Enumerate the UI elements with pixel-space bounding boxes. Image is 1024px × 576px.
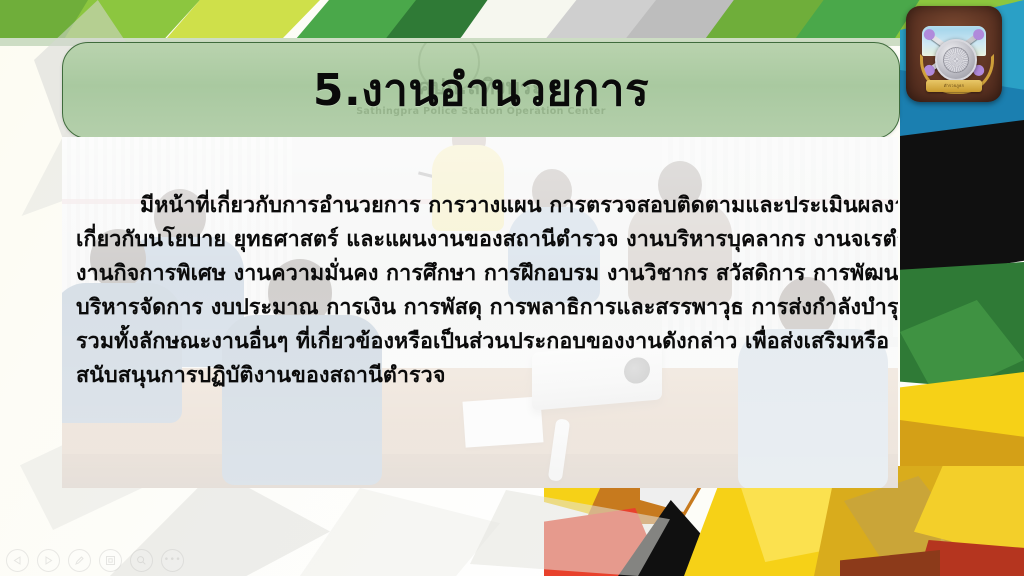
page-title: 5.งานอำนวยการ [63,69,899,113]
triangle-right-icon [44,556,53,565]
slideshow-toolbar[interactable]: ••• [6,549,184,572]
body-line: เกี่ยวกับนโยบาย ยุทธศาสตร์ และแผนงานของส… [76,223,884,257]
badge-ribbon: ตำรวจภูธร [926,80,982,92]
content-panel: มีหน้าที่เกี่ยวกับการอำนวยการ การวางแผน … [62,137,898,488]
fit-to-screen-button[interactable] [99,549,122,572]
presentation-slide: ตำรวจภูธร ศปก.สทิงพระ Sathingpra Police … [0,0,1024,576]
badge-medal-icon [935,39,977,81]
pen-icon [74,555,85,566]
body-text: มีหน้าที่เกี่ยวกับการอำนวยการ การวางแผน … [76,189,884,393]
fit-screen-icon [105,555,116,566]
body-line: งานกิจการพิเศษ งานความมั่นคง การศึกษา กา… [76,257,884,291]
body-line: บริหารจัดการ งบประมาณ การเงิน การพัสดุ ก… [76,291,884,325]
next-slide-button[interactable] [37,549,60,572]
slide-title-bar: ศปก.สทิงพระ Sathingpra Police Station Op… [62,42,900,139]
more-options-button[interactable]: ••• [161,549,184,572]
body-line: มีหน้าที่เกี่ยวกับการอำนวยการ การวางแผน … [76,189,884,223]
zoom-button[interactable] [130,549,153,572]
police-emblem-badge: ตำรวจภูธร [906,6,1002,102]
ellipsis-icon: ••• [164,556,181,565]
body-line: สนับสนุนการปฏิบัติงานของสถานีตำรวจ [76,359,884,393]
background-top-band [0,0,1024,46]
previous-slide-button[interactable] [6,549,29,572]
bg-triangle [900,120,1024,280]
body-line: รวมทั้งลักษณะงานอื่นๆ ที่เกี่ยวข้องหรือเ… [76,325,884,359]
badge-ribbon-text: ตำรวจภูธร [926,80,982,92]
pen-annotate-button[interactable] [68,549,91,572]
magnifier-icon [136,555,147,566]
triangle-left-icon [13,556,22,565]
